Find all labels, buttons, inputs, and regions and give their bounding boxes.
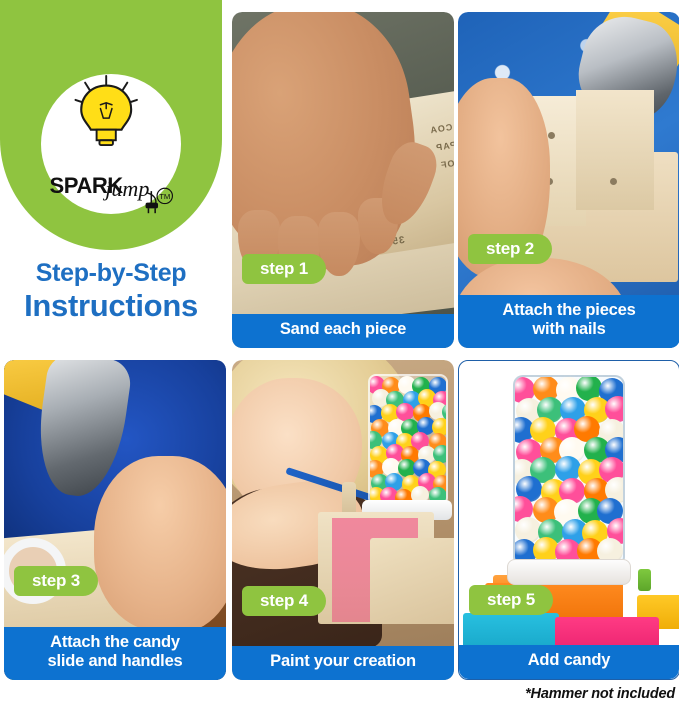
sandpaper-text: PROOF	[439, 155, 454, 171]
step-badge-3: step 3	[14, 566, 98, 596]
lightbulb-icon	[50, 74, 172, 174]
step-4-photo	[232, 360, 454, 680]
logo-word-jump: jump	[102, 176, 149, 201]
step-caption-3: Attach the candy slide and handles	[12, 633, 218, 671]
step-badge-4: step 4	[242, 586, 326, 616]
step-by-step-instructions-infographic: SPARK jump TM Step-by-Step Instructions	[0, 0, 679, 708]
step-badge-2: step 2	[468, 234, 552, 264]
sandpaper-text: RO COA	[429, 119, 454, 135]
page-title: Step-by-Step Instructions	[0, 258, 222, 324]
step-panel-5: step 5 Add candy	[458, 360, 679, 680]
step-badge-1: step 1	[242, 254, 326, 284]
step-caption-block-5: Add candy	[459, 645, 679, 679]
page-title-line-1: Step-by-Step	[0, 258, 222, 288]
step-caption-block-4: Paint your creation	[232, 646, 454, 680]
step-panel-4: step 4 Paint your creation	[232, 360, 454, 680]
gumball	[605, 396, 625, 422]
step-panel-3: step 3 Attach the candy slide and handle…	[4, 360, 226, 680]
logo-tm: TM	[159, 192, 170, 201]
step-caption-2: Attach the pieces with nails	[466, 301, 672, 339]
step-5-photo	[459, 361, 679, 679]
sandpaper-text: NE PAP	[435, 137, 454, 153]
step-caption-5: Add candy	[467, 651, 671, 670]
step-caption-block-2: Attach the pieces with nails	[458, 295, 679, 348]
step-panel-1: RO COA NE PAP PROOF ARB 3548 step 1 Sand…	[232, 12, 454, 348]
step-caption-block-3: Attach the candy slide and handles	[4, 627, 226, 680]
page-title-line-2: Instructions	[0, 288, 222, 324]
step-panel-2: step 2 Attach the pieces with nails	[458, 12, 679, 348]
step-caption-1: Sand each piece	[240, 320, 446, 339]
step-caption-block-1: Sand each piece	[232, 314, 454, 348]
sparkjump-wordmark: SPARK jump TM	[45, 170, 177, 214]
sparkjump-logo: SPARK jump TM	[41, 74, 181, 214]
brand-cell: SPARK jump TM Step-by-Step Instructions	[0, 0, 224, 348]
step-caption-4: Paint your creation	[240, 652, 446, 671]
step-badge-5: step 5	[469, 585, 553, 615]
step-1-photo: RO COA NE PAP PROOF ARB 3548	[232, 12, 454, 348]
footnote-hammer-not-included: *Hammer not included	[525, 686, 675, 702]
